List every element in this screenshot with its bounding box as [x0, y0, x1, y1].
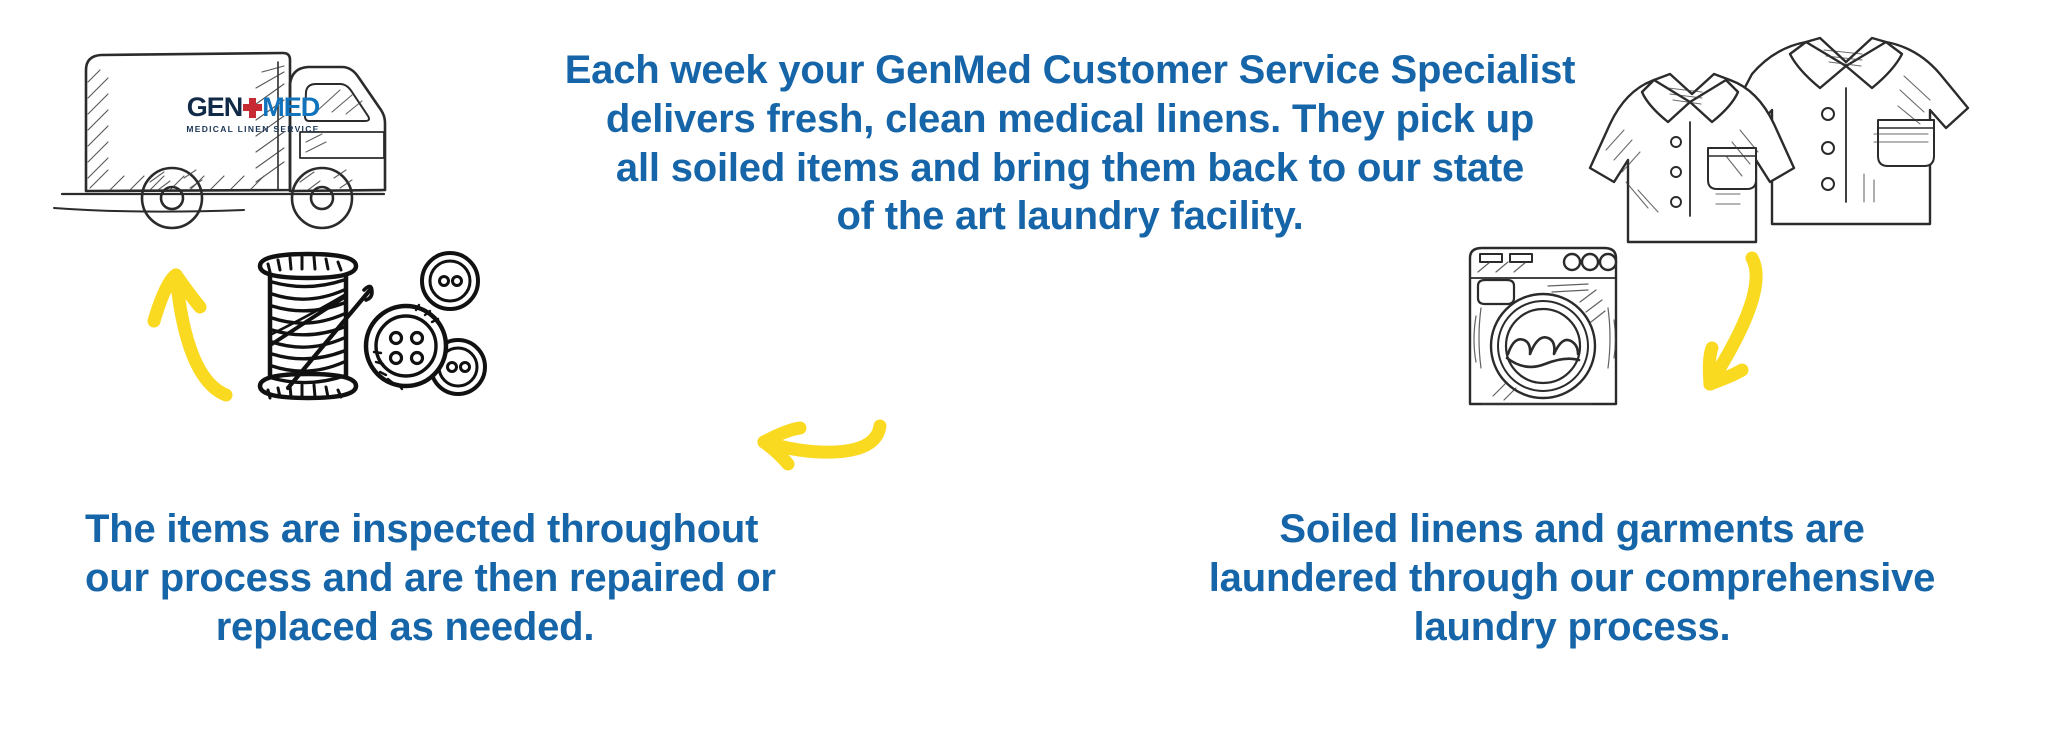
delivery-truck-illustration: GENMED MEDICAL LINEN SERVICE	[50, 22, 410, 222]
left-description-text: The items are inspected throughout our p…	[85, 505, 725, 651]
left-line-3: replaced as needed.	[85, 603, 725, 652]
right-description-text: Soiled linens and garments are laundered…	[1122, 505, 2022, 651]
top-line-2: delivers fresh, clean medical linens. Th…	[470, 95, 1670, 144]
top-line-3: all soiled items and bring them back to …	[470, 144, 1670, 193]
curved-arrow-down-icon	[1690, 248, 1800, 398]
left-line-2: our process and are then repaired or	[85, 554, 725, 603]
curved-arrow-left-icon	[740, 400, 890, 480]
logo-wordmark: GENMED	[168, 94, 338, 121]
right-line-3: laundry process.	[1122, 603, 2022, 652]
logo-word-med: MED	[262, 92, 319, 122]
top-line-1: Each week your GenMed Customer Service S…	[470, 46, 1670, 95]
curved-arrow-up-icon	[140, 255, 250, 405]
logo-word-gen: GEN	[187, 92, 243, 122]
folded-shirts-illustration	[1556, 14, 1976, 229]
genmed-logo: GENMED MEDICAL LINEN SERVICE	[168, 94, 338, 134]
right-line-2: laundered through our comprehensive	[1122, 554, 2022, 603]
right-line-1: Soiled linens and garments are	[1122, 505, 2022, 554]
medical-cross-icon	[242, 97, 262, 119]
logo-tagline: MEDICAL LINEN SERVICE	[168, 124, 338, 134]
top-description-text: Each week your GenMed Customer Service S…	[470, 46, 1670, 241]
thread-spool-and-buttons-illustration	[246, 248, 506, 408]
top-line-4: of the art laundry facility.	[470, 192, 1670, 241]
left-line-1: The items are inspected throughout	[85, 505, 725, 554]
washing-machine-illustration	[1448, 236, 1638, 412]
infographic-canvas: GENMED MEDICAL LINEN SERVICE Each week y…	[0, 0, 2048, 739]
